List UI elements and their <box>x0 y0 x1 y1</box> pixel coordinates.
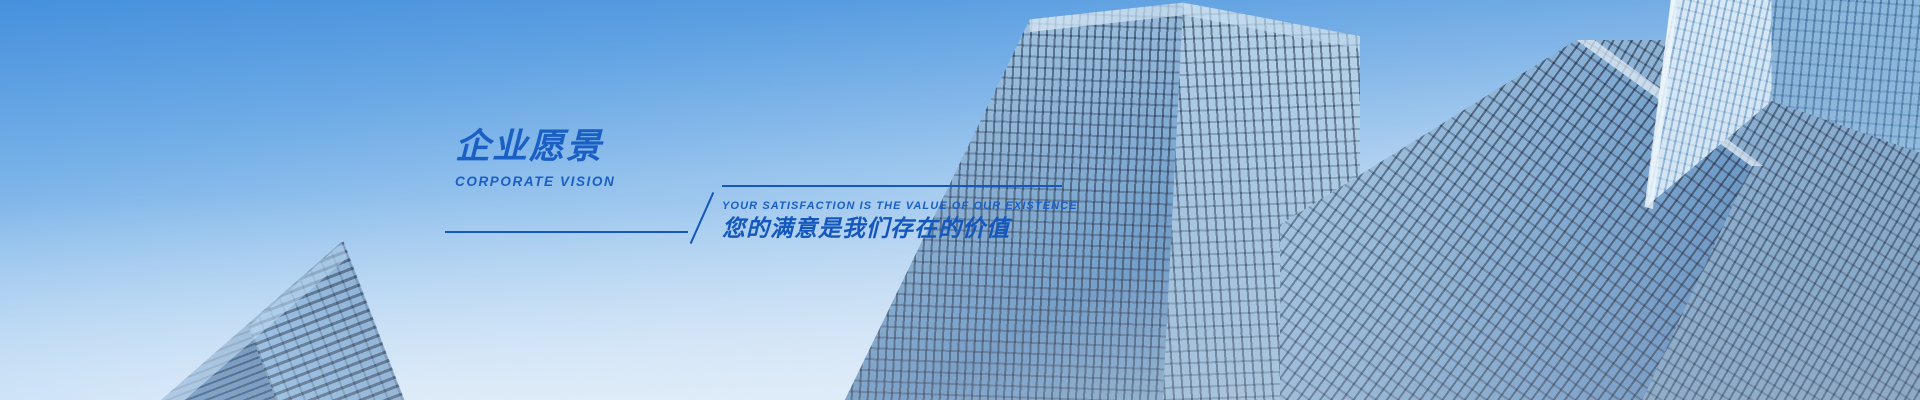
building-far-tower <box>1600 0 1920 216</box>
diagonal-separator-icon <box>691 190 723 234</box>
page-title: 企业愿景 <box>455 130 700 165</box>
vision-text-block: 企业愿景 CORPORATE VISION YOUR SATISFACTION … <box>455 130 875 250</box>
page-subtitle: CORPORATE VISION <box>455 174 700 189</box>
tagline-english: YOUR SATISFACTION IS THE VALUE OF OUR EX… <box>722 200 1062 212</box>
tagline-topline <box>722 185 1062 187</box>
vision-tagline-group: YOUR SATISFACTION IS THE VALUE OF OUR EX… <box>722 185 1062 244</box>
corporate-vision-banner: 企业愿景 CORPORATE VISION YOUR SATISFACTION … <box>0 0 1920 400</box>
tagline-chinese: 您的满意是我们存在的价值 <box>722 215 1062 244</box>
heading-underline <box>445 231 688 233</box>
vision-heading-group: 企业愿景 CORPORATE VISION <box>455 130 700 189</box>
